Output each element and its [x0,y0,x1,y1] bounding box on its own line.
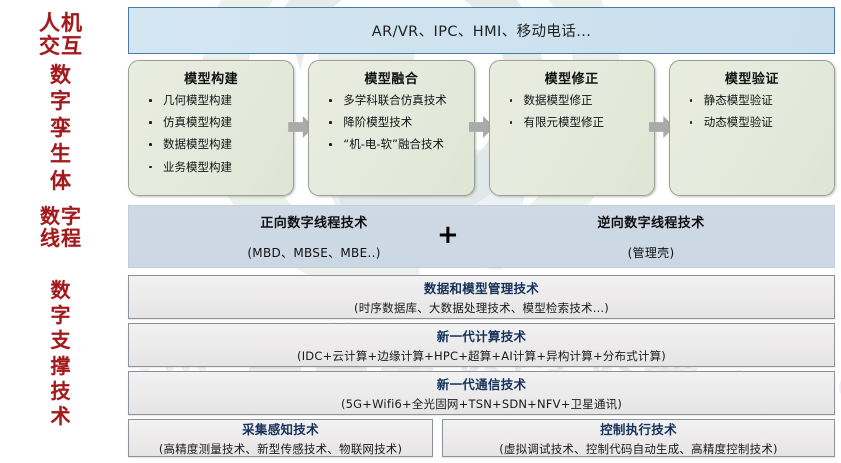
model-box-title: 模型验证 [676,68,828,87]
model-box-title: 模型构建 [135,68,287,87]
model-box-list: 静态模型验证 动态模型验证 [676,94,828,129]
list-item: 静态模型验证 [684,94,828,107]
list-item: 多学科联合仿真技术 [323,94,467,107]
support-bar-next-gen-computing[interactable]: 新一代计算技术 (IDC+云计算+边缘计算+HPC+超算+AI计算+异构计算+分… [128,323,835,367]
model-box-title: 模型融合 [315,68,467,87]
digital-twin-row: 模型构建 几何模型构建 仿真模型构建 数据模型构建 业务模型构建 模型融合 多学… [128,60,835,202]
support-bar-sub: (时序数据库、大数据处理技术、模型检索技术...) [354,300,609,316]
support-bar-sub: (虚拟调试技术、控制代码自动生成、高精度控制技术) [499,441,777,457]
list-item: 有限元模型修正 [504,116,648,129]
list-item: 数据模型修正 [504,94,648,107]
reverse-thread-sub: (管理壳) [486,244,816,261]
support-bar-data-model-management[interactable]: 数据和模型管理技术 (时序数据库、大数据处理技术、模型检索技术...) [128,275,835,319]
list-item: 仿真模型构建 [143,116,287,129]
list-item: 几何模型构建 [143,94,287,107]
list-item: “机-电-软”融合技术 [323,138,467,151]
model-box-list: 数据模型修正 有限元模型修正 [496,94,648,129]
list-item: 数据模型构建 [143,138,287,151]
digital-thread-band: 正向数字线程技术 (MBD、MBSE、MBE..) 逆向数字线程技术 (管理壳) [128,205,835,268]
rail-label-hmi: 人机交互 [0,12,122,57]
support-bar-sub: (5G+Wifi6+全光固网+TSN+SDN+NFV+卫星通讯) [341,396,622,412]
list-item: 业务模型构建 [143,161,287,174]
forward-thread-block: 正向数字线程技术 (MBD、MBSE、MBE..) [149,212,479,261]
rail-label-digital-thread: 数字线程 [0,205,122,250]
support-bar-title: 新一代计算技术 [437,326,527,345]
support-bar-title: 数据和模型管理技术 [424,278,539,297]
model-box-construction[interactable]: 模型构建 几何模型构建 仿真模型构建 数据模型构建 业务模型构建 [128,60,294,196]
support-bar-control-execution[interactable]: 控制执行技术 (虚拟调试技术、控制代码自动生成、高精度控制技术) [442,419,835,457]
model-box-correction[interactable]: 模型修正 数据模型修正 有限元模型修正 [489,60,655,196]
rail-label-digital-twin: 数字孪生体 [0,62,122,194]
list-item: 动态模型验证 [684,116,828,129]
hmi-banner-text: AR/VR、IPC、HMI、移动电话... [372,20,591,41]
support-bar-sensing[interactable]: 采集感知技术 (高精度测量技术、新型传感技术、物联网技术) [128,419,433,457]
diagram-canvas: 工业互联网联盟 Alliance of Industrial Internet … [0,0,841,463]
forward-thread-sub: (MBD、MBSE、MBE..) [149,244,479,261]
support-bar-title: 采集感知技术 [242,419,319,438]
left-label-rail: 人机交互 数字孪生体 数字线程 数字支撑技术 [0,0,122,463]
rail-label-digital-support: 数字支撑技术 [0,278,122,429]
forward-thread-title: 正向数字线程技术 [149,212,479,231]
model-box-title: 模型修正 [496,68,648,87]
reverse-thread-block: 逆向数字线程技术 (管理壳) [486,212,816,261]
list-item: 降阶模型技术 [323,116,467,129]
support-bar-title: 新一代通信技术 [437,374,527,393]
model-box-list: 多学科联合仿真技术 降阶模型技术 “机-电-软”融合技术 [315,94,467,152]
plus-icon: + [437,222,459,248]
model-box-validation[interactable]: 模型验证 静态模型验证 动态模型验证 [669,60,835,196]
support-bar-title: 控制执行技术 [600,419,677,438]
hmi-banner: AR/VR、IPC、HMI、移动电话... [128,7,835,54]
model-box-fusion[interactable]: 模型融合 多学科联合仿真技术 降阶模型技术 “机-电-软”融合技术 [308,60,474,196]
model-box-list: 几何模型构建 仿真模型构建 数据模型构建 业务模型构建 [135,94,287,174]
support-bar-next-gen-communication[interactable]: 新一代通信技术 (5G+Wifi6+全光固网+TSN+SDN+NFV+卫星通讯) [128,371,835,415]
reverse-thread-title: 逆向数字线程技术 [486,212,816,231]
support-bar-sub: (IDC+云计算+边缘计算+HPC+超算+AI计算+异构计算+分布式计算) [297,348,666,364]
support-bar-sub: (高精度测量技术、新型传感技术、物联网技术) [159,441,402,457]
